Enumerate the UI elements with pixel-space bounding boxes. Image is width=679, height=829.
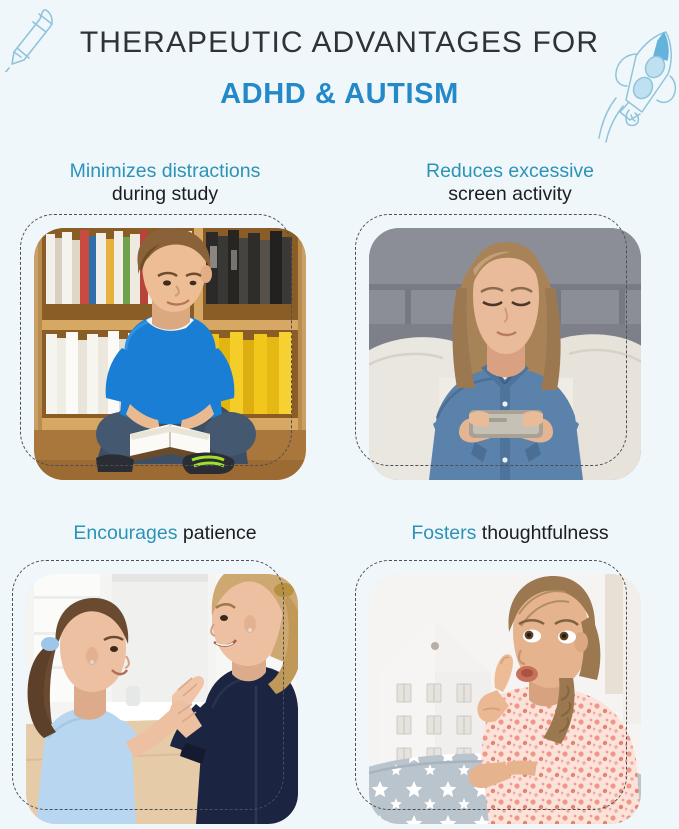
card-1-caption-rest: during study bbox=[0, 183, 330, 206]
benefit-card-minimizes-distractions: Minimizes distractions during study bbox=[0, 152, 330, 492]
card-3-caption-highlight: Encourages bbox=[73, 522, 177, 544]
card-1-dashed-outline bbox=[20, 214, 292, 466]
card-3-photo-frame bbox=[12, 560, 284, 810]
card-2-photo-frame bbox=[355, 214, 627, 466]
card-3-caption: Encourages patience bbox=[0, 522, 330, 545]
card-2-caption: Reduces excessive screen activity bbox=[345, 160, 675, 205]
benefit-card-reduces-screen-activity: Reduces excessive screen activity bbox=[345, 152, 675, 492]
card-4-caption-rest: thoughtfulness bbox=[482, 522, 609, 544]
page-title-line1: THERAPEUTIC ADVANTAGES FOR bbox=[0, 26, 679, 60]
card-4-dashed-outline bbox=[355, 560, 627, 810]
card-4-caption: Fosters thoughtfulness bbox=[345, 522, 675, 545]
card-2-caption-rest: screen activity bbox=[345, 183, 675, 206]
card-3-caption-rest: patience bbox=[183, 522, 257, 544]
card-4-caption-highlight: Fosters bbox=[411, 522, 476, 544]
card-2-caption-highlight: Reduces excessive bbox=[426, 160, 594, 182]
card-4-photo-frame bbox=[355, 560, 627, 810]
header: THERAPEUTIC ADVANTAGES FOR ADHD & AUTISM bbox=[0, 0, 679, 140]
card-1-caption: Minimizes distractions during study bbox=[0, 160, 330, 205]
card-2-dashed-outline bbox=[355, 214, 627, 466]
poster-root: THERAPEUTIC ADVANTAGES FOR ADHD & AUTISM… bbox=[0, 0, 679, 829]
benefit-card-fosters-thoughtfulness: Fosters thoughtfulness bbox=[345, 512, 675, 822]
card-1-caption-highlight: Minimizes distractions bbox=[70, 160, 261, 182]
card-1-photo-frame bbox=[20, 214, 292, 466]
page-title-line2: ADHD & AUTISM bbox=[0, 78, 679, 111]
benefit-card-encourages-patience: Encourages patience bbox=[0, 512, 330, 822]
card-3-dashed-outline bbox=[12, 560, 284, 810]
